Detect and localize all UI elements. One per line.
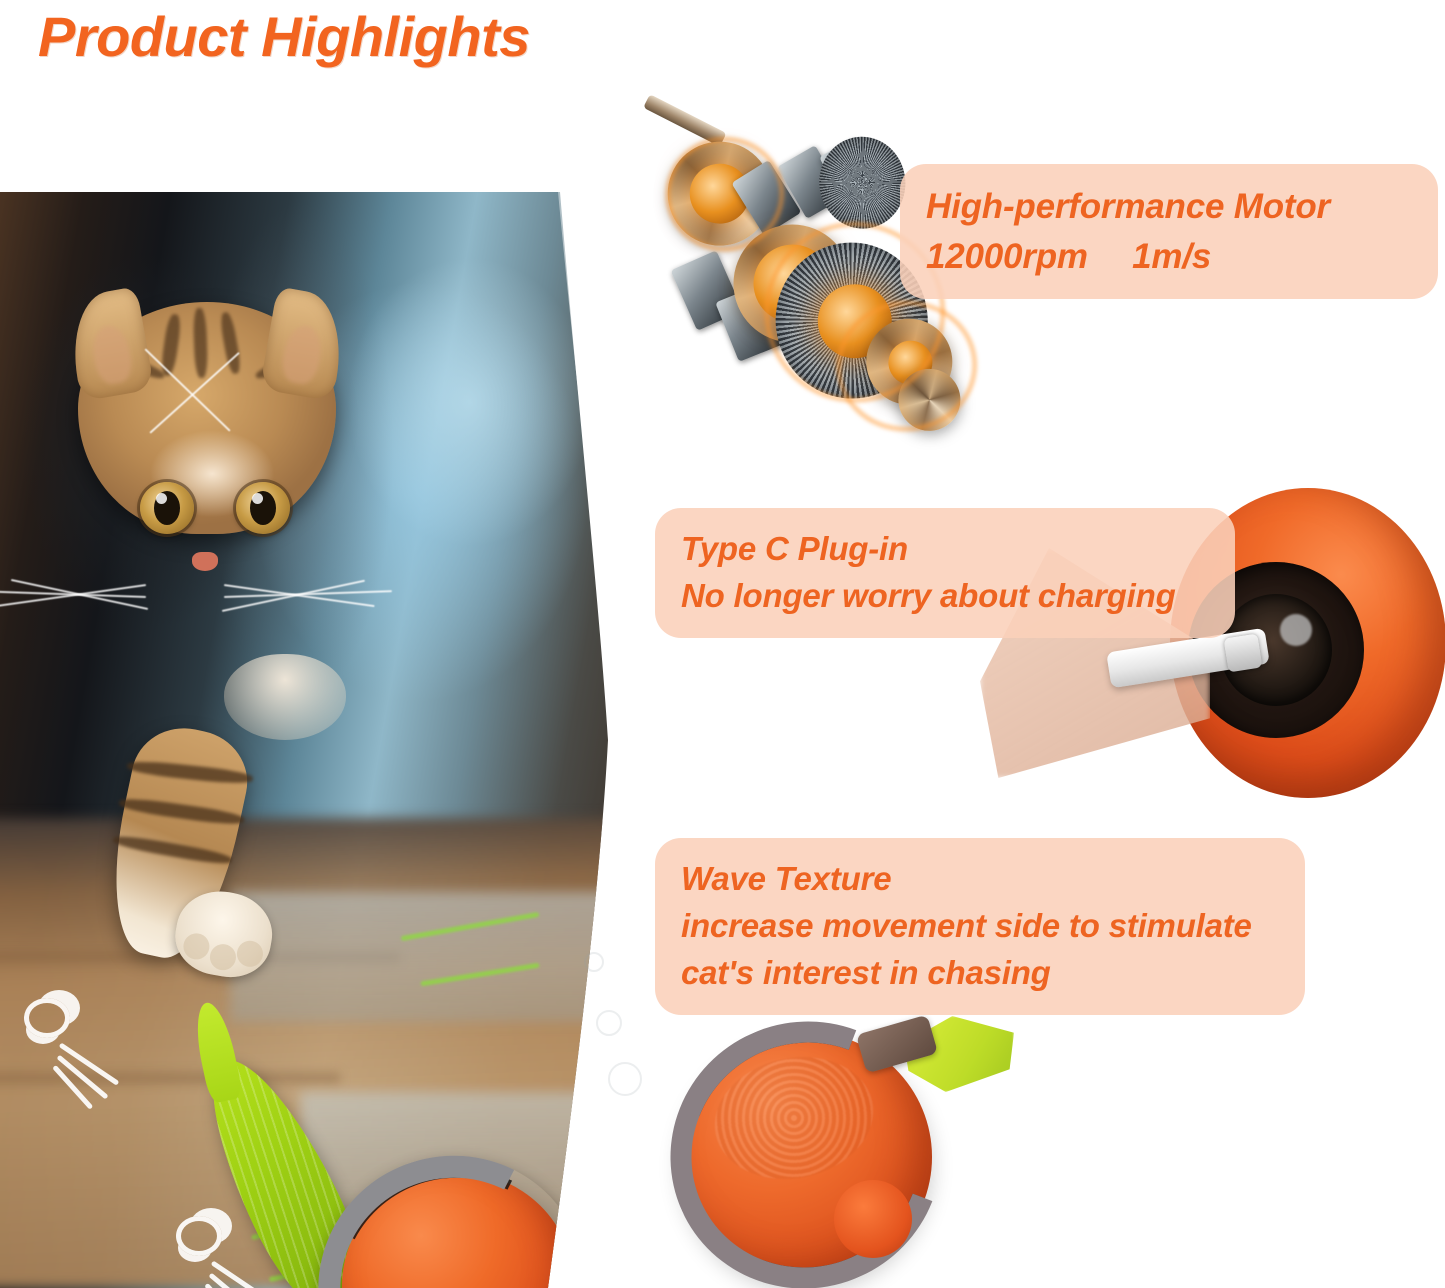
- cat-leg-stripe: [118, 796, 245, 827]
- cat-forehead-stripe: [193, 308, 208, 378]
- cat-ear-inner: [279, 323, 325, 386]
- watermark-circle: [584, 952, 604, 972]
- cat-ear-inner: [89, 323, 135, 386]
- motor-laminations: [815, 132, 910, 232]
- cat-eye-left: [140, 482, 194, 534]
- callout-typec-detail: No longer worry about charging: [681, 573, 1209, 620]
- cat-muzzle: [224, 654, 346, 740]
- callout-motor-heading: High-performance Motor: [926, 182, 1412, 232]
- usb-c-plug: [1224, 634, 1263, 673]
- callout-type-c: Type C Plug-in No longer worry about cha…: [655, 508, 1235, 638]
- cat-toe: [235, 939, 265, 969]
- cat-nose: [192, 552, 218, 571]
- wave-ball-power-button: [834, 1180, 912, 1258]
- charging-port-highlight: [1280, 614, 1312, 646]
- watermark-circle: [608, 1062, 642, 1096]
- puff-cloud-icon: [24, 998, 70, 1038]
- hero-photo-clip: [0, 192, 660, 1288]
- callout-motor: High-performance Motor 12000rpm 1m/s: [900, 164, 1438, 299]
- cat-toe: [208, 942, 238, 972]
- floor-plank-line: [0, 1072, 340, 1084]
- cat-leg-stripe: [112, 833, 232, 867]
- wave-texture-ball-image: [668, 1010, 1008, 1288]
- cat-leg-stripe: [127, 759, 254, 786]
- wave-ball-gray-band: [628, 978, 985, 1288]
- cat-toe: [181, 931, 211, 961]
- product-highlights-page: Product Highlights: [0, 0, 1445, 1288]
- callout-wave-detail-2: cat's interest in chasing: [681, 950, 1279, 997]
- callout-motor-specs: 12000rpm 1m/s: [926, 232, 1412, 282]
- callout-wave-heading: Wave Texture: [681, 856, 1279, 903]
- watermark-circle: [596, 1010, 622, 1036]
- page-title: Product Highlights: [38, 4, 530, 69]
- callout-wave-detail-1: increase movement side to stimulate: [681, 903, 1279, 950]
- puff-cloud-icon: [176, 1216, 222, 1256]
- cat-eye-right: [236, 482, 290, 534]
- callout-wave-texture: Wave Texture increase movement side to s…: [655, 838, 1305, 1015]
- hero-photo-panel: [0, 192, 660, 1288]
- callout-typec-heading: Type C Plug-in: [681, 526, 1209, 573]
